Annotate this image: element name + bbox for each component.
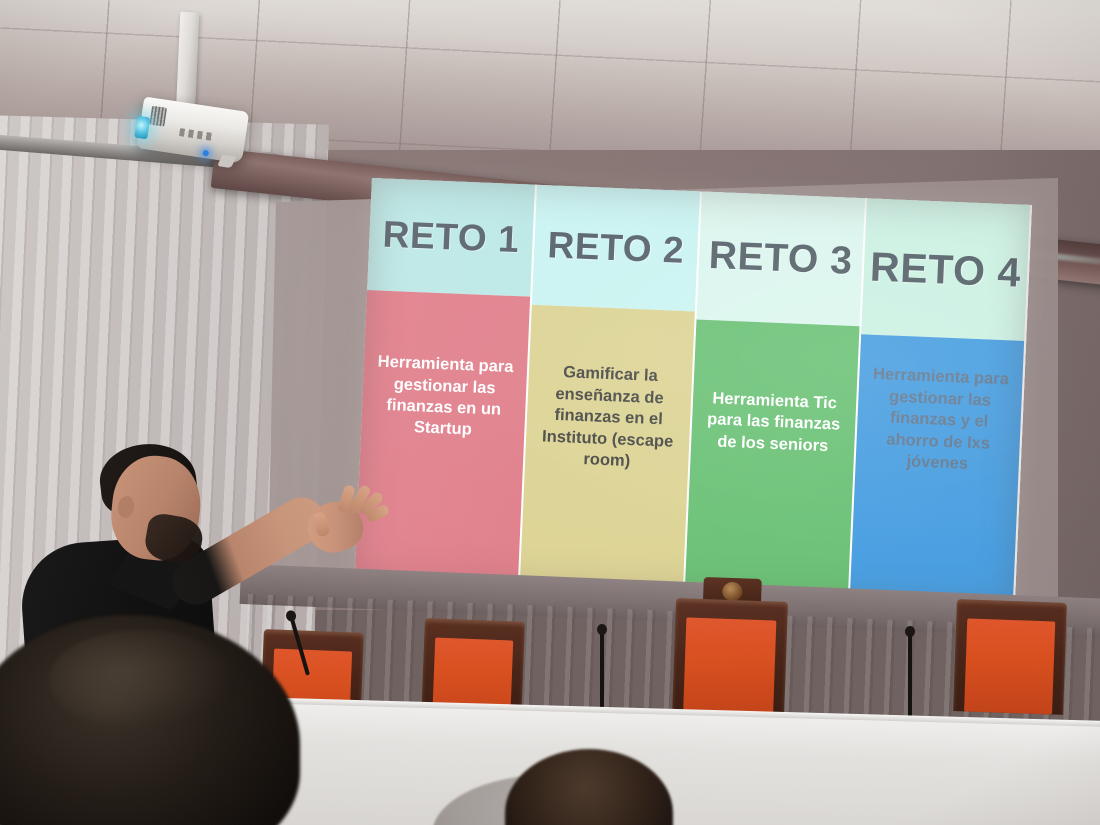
panel-body-reto-3: Herramienta Tic para las finanzas de los… [685,320,860,601]
panel-header-label: RETO 1 [382,214,520,262]
projector-vent-icon [149,106,167,127]
panel-body-label: Herramienta para gestionar las finanzas … [865,364,1013,477]
panel-header-reto-2: RETO 2 [532,185,700,312]
panel-header-reto-3: RETO 3 [696,192,865,327]
chair-cushion [683,617,776,719]
panel-header-reto-4: RETO 4 [861,198,1030,341]
slide-panel-reto-4: RETO 4 Herramienta para gestionar las fi… [850,198,1032,607]
stage-chair-with-crest [672,598,788,720]
panel-header-label: RETO 4 [869,243,1022,296]
gooseneck-microphone-icon [908,635,912,721]
panel-body-label: Gamificar la enseñanza de finanzas en el… [535,362,683,475]
projector-buttons[interactable] [179,128,214,141]
panel-header-label: RETO 2 [547,224,685,272]
stage-chair [953,599,1067,715]
chair-cushion [964,618,1055,714]
panel-header-reto-1: RETO 1 [367,178,535,297]
panel-body-label: Herramienta Tic para las finanzas de los… [701,388,847,458]
projector-status-led-icon [202,150,209,157]
slide-panel-reto-3: RETO 3 Herramienta Tic para las finanzas… [685,192,867,601]
projector-lens-icon [134,116,150,140]
projected-slide-area: RETO 1 Herramienta para gestionar las fi… [355,178,1032,607]
panel-body-reto-4: Herramienta para gestionar las finanzas … [850,334,1024,607]
panel-header-label: RETO 3 [708,234,854,284]
photograph-scene: RETO 1 Herramienta para gestionar las fi… [0,0,1100,825]
reto-grid-slide: RETO 1 Herramienta para gestionar las fi… [355,178,1032,607]
panel-body-reto-2: Gamificar la enseñanza de finanzas en el… [520,305,695,594]
slide-panel-reto-2: RETO 2 Gamificar la enseñanza de finanza… [520,185,702,594]
